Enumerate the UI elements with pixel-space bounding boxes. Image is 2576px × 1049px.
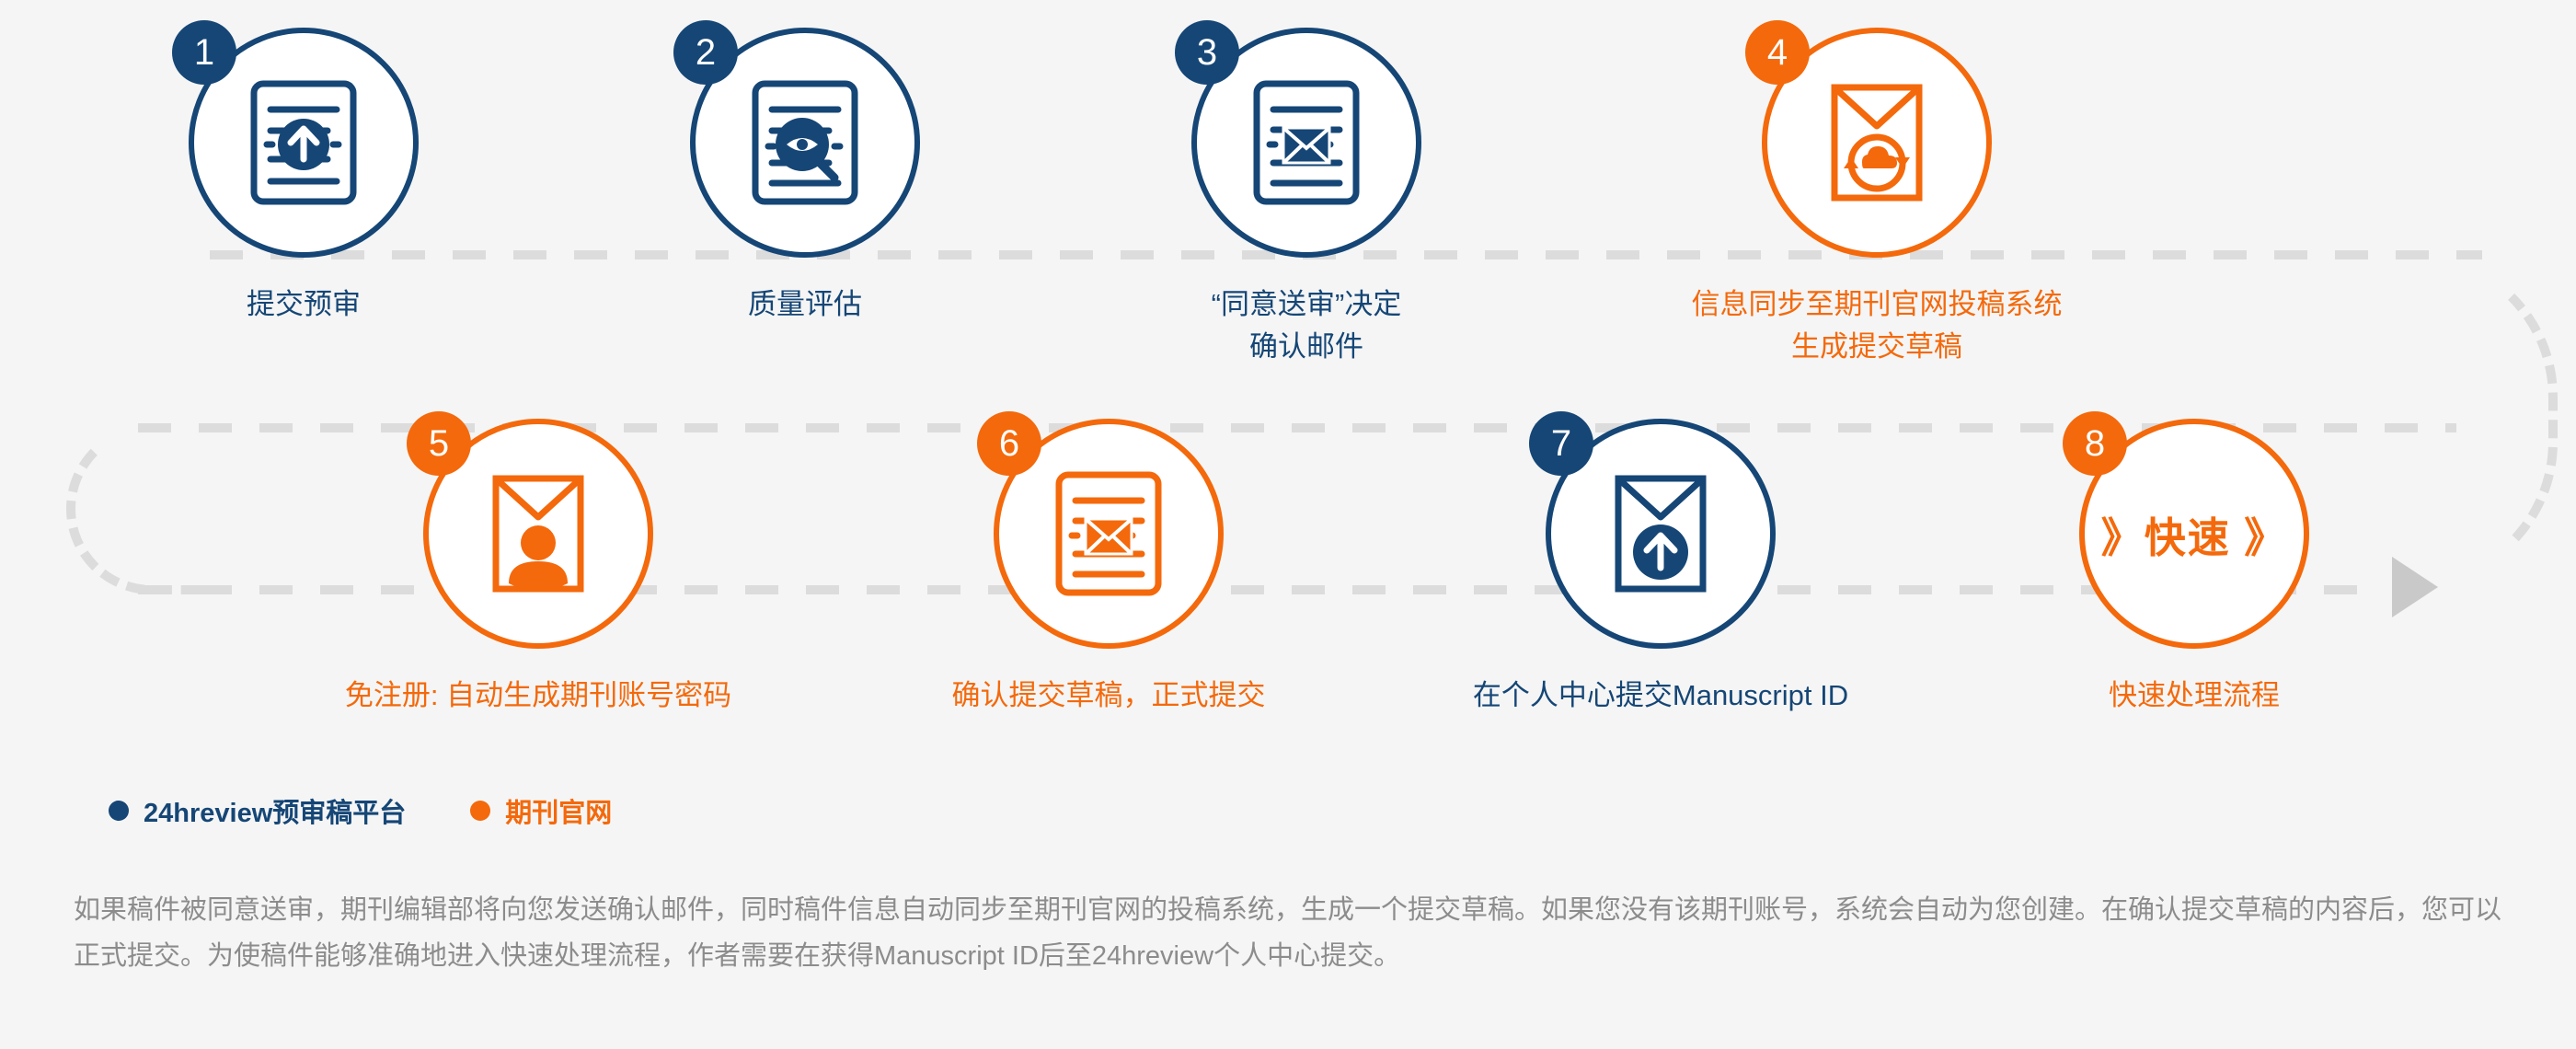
step-1-node[interactable]: 1	[189, 28, 419, 258]
step-2-node[interactable]: 2	[690, 28, 920, 258]
step-2[interactable]: 2 质量评估	[676, 28, 934, 324]
legend-label: 期刊官网	[505, 791, 612, 830]
step-5-number-badge: 5	[407, 411, 471, 476]
step-8[interactable]: 8 》快速 》 快速处理流程	[2065, 419, 2323, 715]
step-6-node[interactable]: 6	[994, 419, 1224, 649]
step-2-number-badge: 2	[673, 20, 738, 85]
step-8-node[interactable]: 8 》快速 》	[2079, 419, 2309, 649]
step-3-node[interactable]: 3	[1191, 28, 1421, 258]
legend-item-journal: 期刊官网	[470, 791, 612, 830]
step-1-caption: 提交预审	[175, 285, 432, 324]
legend-label: 24hreview预审稿平台	[144, 791, 406, 830]
step-6[interactable]: 6 确认提交草稿，正式提交	[980, 419, 1237, 715]
step-4-caption-line-1: 信息同步至期刊官网投稿系统	[1665, 285, 2088, 324]
step-7[interactable]: 7 在个人中心提交Manuscript ID	[1532, 419, 1789, 715]
legend-dot-icon	[109, 801, 129, 821]
step-4[interactable]: 4 信息同步至期刊官网投稿系统 生成提交草稿	[1748, 28, 2006, 366]
step-3-number-badge: 3	[1175, 20, 1239, 85]
step-1-number-badge: 1	[172, 20, 236, 85]
legend: 24hreview预审稿平台 期刊官网	[109, 791, 612, 830]
step-2-caption: 质量评估	[676, 285, 934, 324]
step-4-caption-line-2: 生成提交草稿	[1748, 328, 2006, 366]
step-4-number-badge: 4	[1745, 20, 1810, 85]
step-3-caption-line-2: 确认邮件	[1178, 328, 1435, 366]
track-right-curve	[2410, 250, 2558, 589]
step-7-caption: 在个人中心提交Manuscript ID	[1449, 676, 1872, 715]
step-6-caption: 确认提交草稿，正式提交	[897, 676, 1320, 715]
step-3[interactable]: 3 “同意送审”决定 确认邮件	[1178, 28, 1435, 366]
track-arrow-icon	[2392, 557, 2438, 617]
workflow-diagram: 1 提交预审 2	[0, 0, 2576, 1049]
step-5[interactable]: 5 免注册: 自动生成期刊账号密码	[409, 419, 667, 715]
step-4-node[interactable]: 4	[1762, 28, 1992, 258]
step-5-node[interactable]: 5	[423, 419, 653, 649]
step-8-caption: 快速处理流程	[2065, 676, 2323, 715]
fast-label: 》快速 》	[2101, 504, 2288, 564]
description-paragraph: 如果稿件被同意送审，期刊编辑部将向您发送确认邮件，同时稿件信息自动同步至期刊官网…	[74, 888, 2502, 980]
step-6-number-badge: 6	[977, 411, 1041, 476]
legend-dot-icon	[470, 801, 490, 821]
track-left-curve	[66, 423, 204, 594]
step-7-node[interactable]: 7	[1546, 419, 1776, 649]
legend-item-platform: 24hreview预审稿平台	[109, 791, 406, 830]
step-7-number-badge: 7	[1529, 411, 1593, 476]
step-8-number-badge: 8	[2063, 411, 2127, 476]
step-3-caption-line-1: “同意送审”决定	[1178, 285, 1435, 324]
step-1[interactable]: 1 提交预审	[175, 28, 432, 324]
step-5-caption: 免注册: 自动生成期刊账号密码	[327, 676, 750, 715]
